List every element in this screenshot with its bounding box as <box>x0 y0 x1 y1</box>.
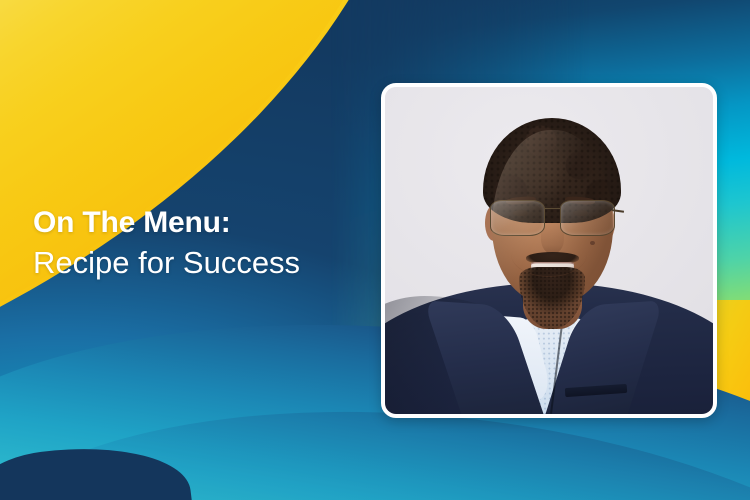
speaker-photo-card <box>381 83 717 418</box>
promo-banner: On The Menu: Recipe for Success <box>0 0 750 500</box>
speaker-portrait-image <box>385 87 713 414</box>
headline: On The Menu: Recipe for Success <box>33 205 373 284</box>
portrait-face-lighting <box>492 130 613 303</box>
headline-line-1: On The Menu: <box>33 205 373 240</box>
headline-line-2: Recipe for Success <box>33 243 373 283</box>
